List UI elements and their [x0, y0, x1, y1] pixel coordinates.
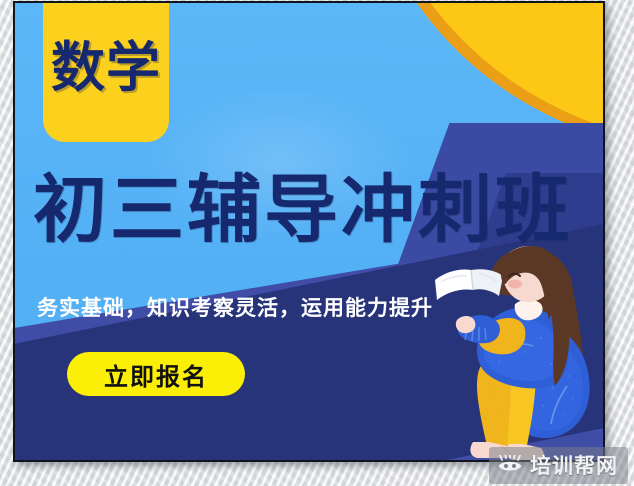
promo-banner-card: 数学 初三辅导冲刺班 务实基础，知识考察灵活，运用能力提升 [13, 1, 605, 462]
banner-subtitle: 务实基础，知识考察灵活，运用能力提升 [37, 298, 433, 319]
subject-badge-label: 数学 [51, 41, 161, 103]
watermark-text: 培训帮网 [530, 450, 618, 480]
enroll-now-label: 立即报名 [104, 357, 208, 392]
subject-badge: 数学 [43, 2, 169, 142]
eye-sunburst-icon [497, 455, 523, 475]
enroll-now-button[interactable]: 立即报名 [67, 352, 245, 396]
girl-reading-illustration [433, 246, 605, 462]
banner-stage: 数学 初三辅导冲刺班 务实基础，知识考察灵活，运用能力提升 [0, 0, 634, 486]
page-title: 初三辅导冲刺班 [33, 173, 572, 247]
watermark: 培训帮网 [489, 447, 628, 484]
